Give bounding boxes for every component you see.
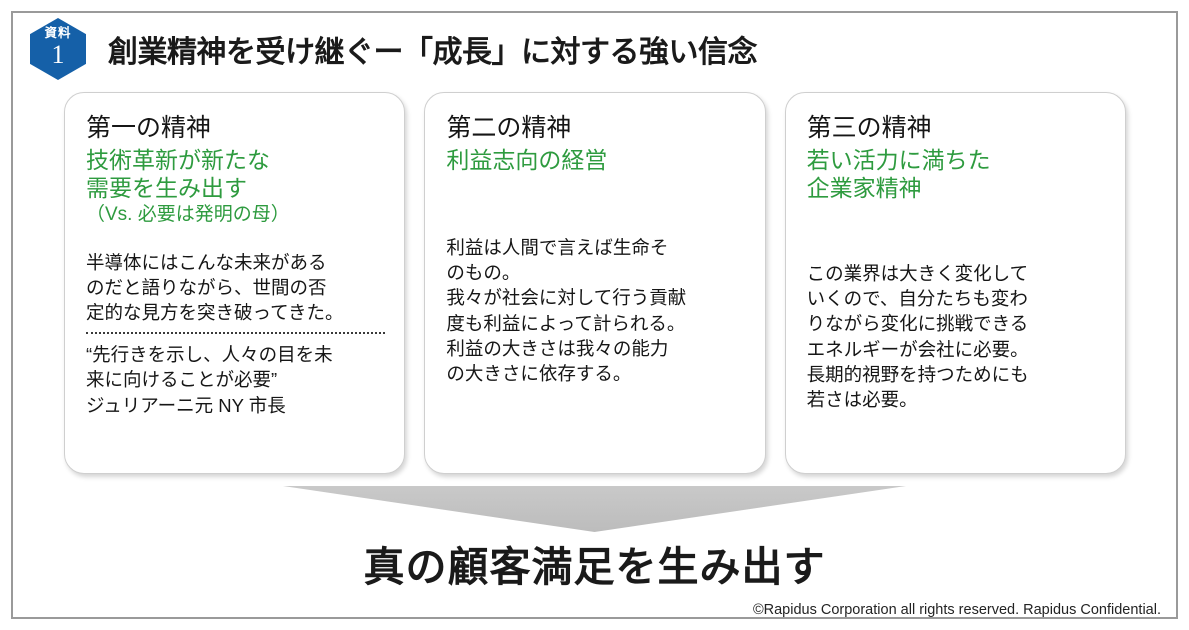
- badge-number: 1: [30, 42, 86, 68]
- spirit-card-third: 第三の精神 若い活力に満ちた 企業家精神 この業界は大きく変化して いくので、自…: [785, 92, 1126, 474]
- card-subtitle: 若い活力に満ちた 企業家精神: [807, 146, 1108, 202]
- card-title: 第二の精神: [446, 114, 747, 143]
- down-arrow-icon: [283, 486, 906, 532]
- spirit-cards-container: 第一の精神 技術革新が新たな 需要を生み出す （Vs. 必要は発明の母） 半導体…: [64, 92, 1126, 474]
- card-body-text: 利益は人間で言えば生命そ のもの。 我々が社会に対して行う貢献 度も利益によって…: [446, 235, 747, 386]
- card-title: 第三の精神: [807, 114, 1108, 143]
- spirit-card-second: 第二の精神 利益志向の経営 利益は人間で言えば生命そ のもの。 我々が社会に対し…: [424, 92, 765, 474]
- card-body-text: 半導体にはこんな未来がある のだと語りながら、世間の否 定的な見方を突き破ってき…: [86, 250, 387, 325]
- dotted-divider: [86, 332, 385, 334]
- page-title: 創業精神を受け継ぐー「成長」に対する強い信念: [108, 27, 757, 71]
- card-title: 第一の精神: [86, 114, 387, 143]
- card-quote-text: “先行きを示し、人々の目を未 来に向けることが必要” ジュリアーニ元 NY 市長: [86, 342, 387, 417]
- card-note: （Vs. 必要は発明の母）: [86, 203, 387, 227]
- card-body-text: この業界は大きく変化して いくので、自分たちも変わ りながら変化に挑戦できる エ…: [807, 261, 1108, 412]
- slide-root: 資料 1 創業精神を受け継ぐー「成長」に対する強い信念 第一の精神 技術革新が新…: [0, 0, 1189, 630]
- down-arrow-shape: [283, 486, 906, 532]
- card-subtitle: 利益志向の経営: [446, 146, 747, 174]
- conclusion-text: 真の顧客満足を生み出す: [0, 533, 1189, 593]
- copyright-footer: ©Rapidus Corporation all rights reserved…: [753, 602, 1161, 618]
- document-number-badge: 資料 1: [30, 18, 86, 80]
- slide-header: 資料 1 創業精神を受け継ぐー「成長」に対する強い信念: [30, 18, 1160, 80]
- spirit-card-first: 第一の精神 技術革新が新たな 需要を生み出す （Vs. 必要は発明の母） 半導体…: [64, 92, 405, 474]
- card-subtitle: 技術革新が新たな 需要を生み出す: [86, 146, 387, 202]
- badge-label: 資料: [30, 27, 86, 40]
